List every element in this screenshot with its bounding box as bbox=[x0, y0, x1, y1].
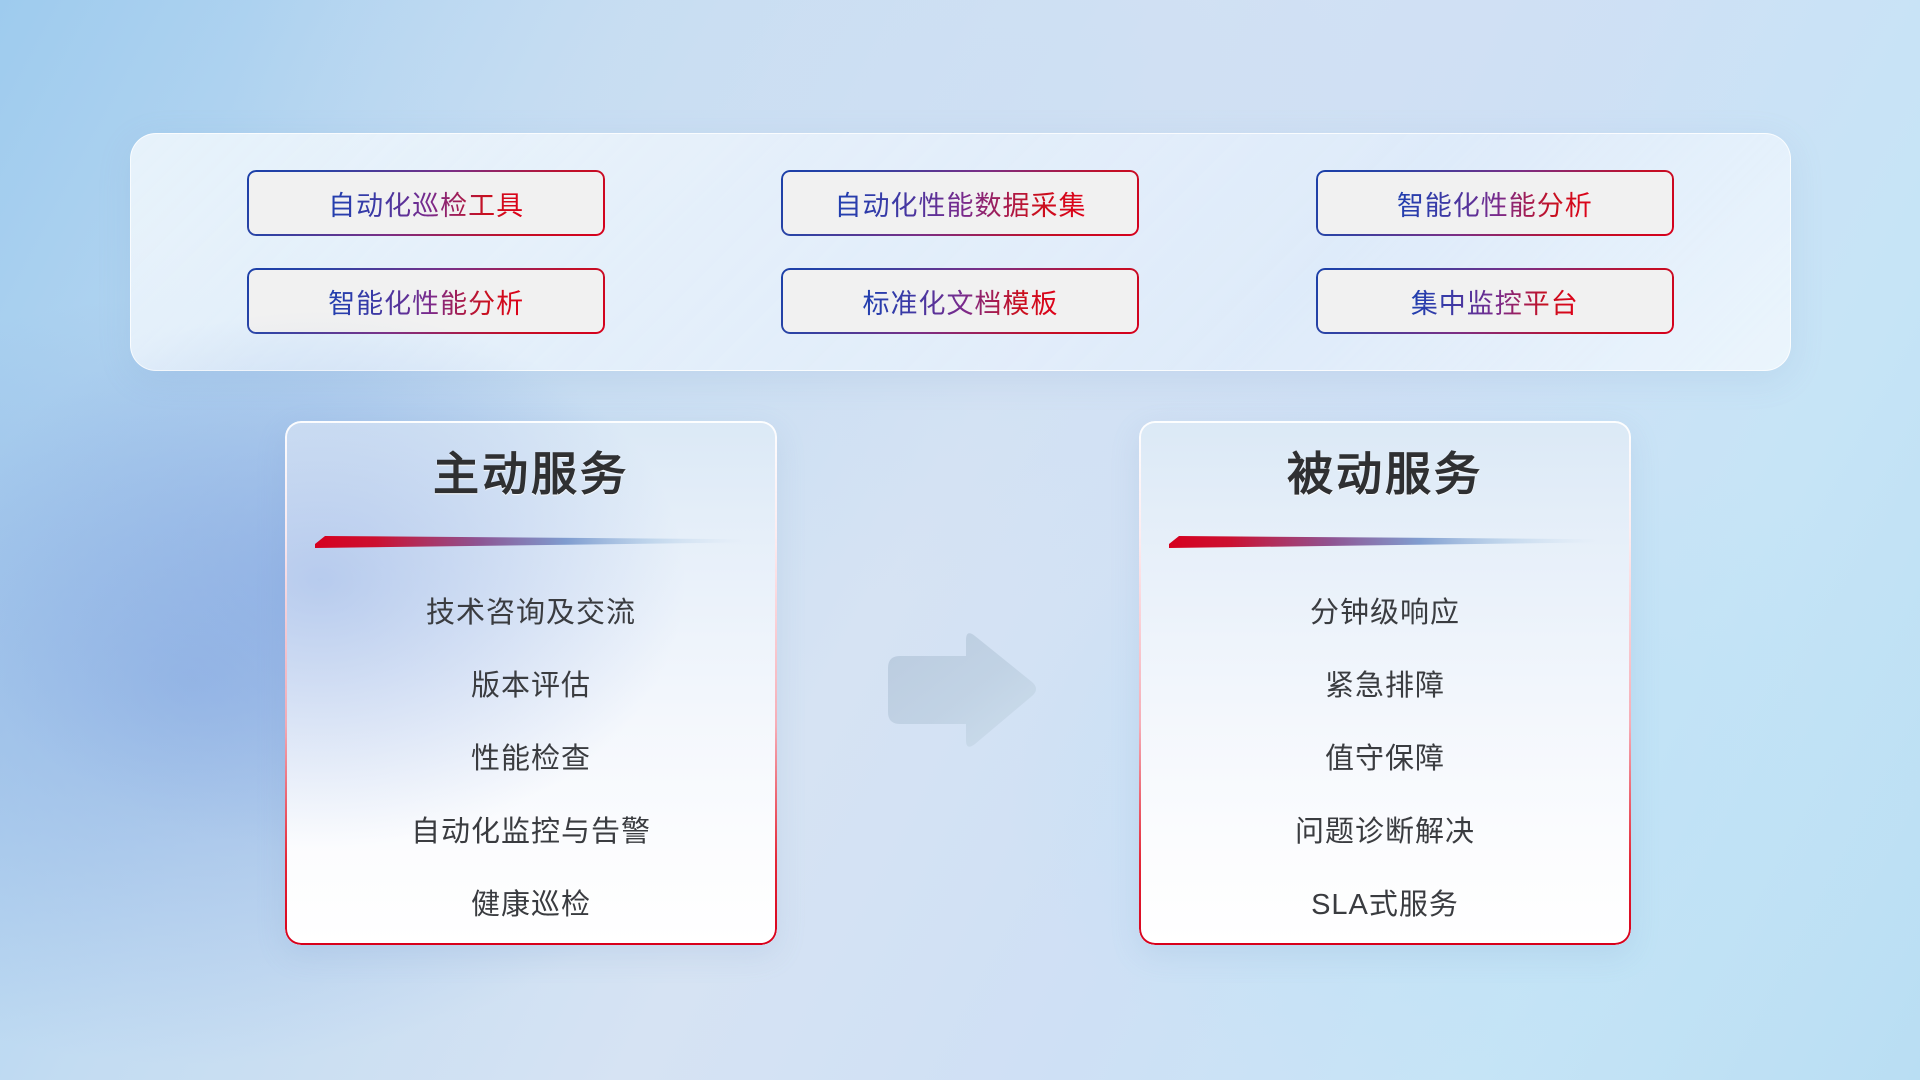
capability-pill-label: 自动化性能数据采集 bbox=[834, 184, 1086, 223]
card-title: 主动服务 bbox=[433, 451, 629, 497]
service-item: SLA式服务 bbox=[1139, 865, 1631, 938]
service-item: 健康巡检 bbox=[285, 865, 777, 938]
service-item: 版本评估 bbox=[285, 646, 777, 719]
service-item: 技术咨询及交流 bbox=[285, 573, 777, 646]
slide-canvas: 自动化巡检工具 自动化性能数据采集 智能化性能分析 智能化性能分析 标准化文档模… bbox=[0, 0, 1920, 1080]
capability-pill-label: 集中监控平台 bbox=[1411, 282, 1579, 321]
capability-panel: 自动化巡检工具 自动化性能数据采集 智能化性能分析 智能化性能分析 标准化文档模… bbox=[130, 133, 1791, 371]
service-item: 值守保障 bbox=[1139, 719, 1631, 792]
capability-pill[interactable]: 标准化文档模板 bbox=[781, 268, 1139, 334]
capability-pill-label: 智能化性能分析 bbox=[328, 282, 524, 321]
capability-pill-label: 智能化性能分析 bbox=[1397, 184, 1593, 223]
service-item-list: 技术咨询及交流 版本评估 性能检查 自动化监控与告警 健康巡检 bbox=[285, 573, 777, 938]
capability-pill[interactable]: 自动化巡检工具 bbox=[247, 170, 605, 236]
service-item-list: 分钟级响应 紧急排障 值守保障 问题诊断解决 SLA式服务 bbox=[1139, 573, 1631, 938]
capability-pill[interactable]: 智能化性能分析 bbox=[247, 268, 605, 334]
title-divider bbox=[1169, 531, 1601, 553]
capability-pill[interactable]: 集中监控平台 bbox=[1316, 268, 1674, 334]
service-item: 紧急排障 bbox=[1139, 646, 1631, 719]
capability-pill-label: 自动化巡检工具 bbox=[328, 184, 524, 223]
capability-pill[interactable]: 智能化性能分析 bbox=[1316, 170, 1674, 236]
service-item: 分钟级响应 bbox=[1139, 573, 1631, 646]
service-item: 自动化监控与告警 bbox=[285, 792, 777, 865]
service-card-proactive: 主动服务 bbox=[285, 421, 777, 945]
card-title: 被动服务 bbox=[1287, 451, 1483, 497]
capability-pill-label: 标准化文档模板 bbox=[862, 282, 1058, 321]
capability-pill[interactable]: 自动化性能数据采集 bbox=[781, 170, 1139, 236]
service-item: 问题诊断解决 bbox=[1139, 792, 1631, 865]
title-divider bbox=[315, 531, 747, 553]
arrow-right-icon bbox=[880, 628, 1040, 754]
service-item: 性能检查 bbox=[285, 719, 777, 792]
service-card-reactive: 被动服务 bbox=[1139, 421, 1631, 945]
